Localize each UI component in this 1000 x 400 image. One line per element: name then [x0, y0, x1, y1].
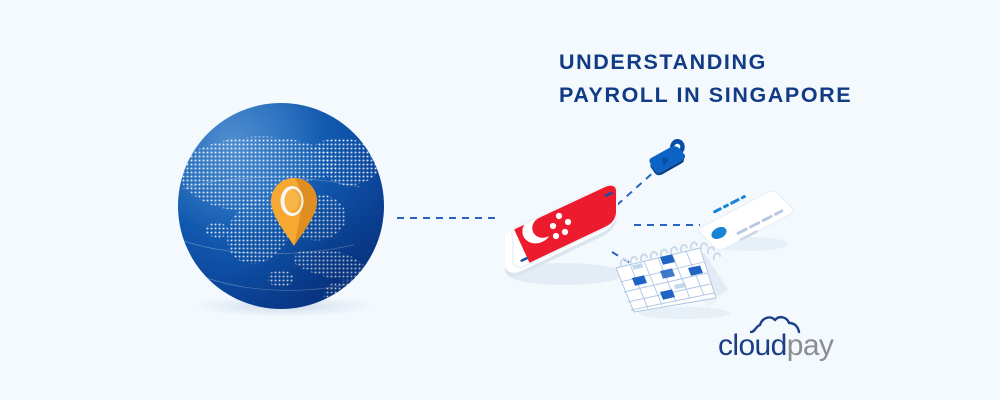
padlock-keyhole — [662, 158, 668, 164]
desk-calendar — [612, 240, 740, 320]
logo-word-pay: pay — [787, 329, 834, 362]
padlock-icon — [640, 136, 692, 188]
cloudpay-logo[interactable]: cloudpay — [718, 312, 828, 364]
illustration-canvas: UNDERSTANDING PAYROLL IN SINGAPORE — [0, 0, 1000, 400]
page-title-line-1: UNDERSTANDING — [559, 46, 852, 79]
logo-word-cloud: cloud — [718, 329, 787, 362]
page-title: UNDERSTANDING PAYROLL IN SINGAPORE — [559, 46, 852, 112]
logo-wordmark: cloudpay — [718, 329, 833, 363]
page-title-line-2: PAYROLL IN SINGAPORE — [559, 79, 852, 112]
location-pin-icon — [268, 176, 320, 248]
